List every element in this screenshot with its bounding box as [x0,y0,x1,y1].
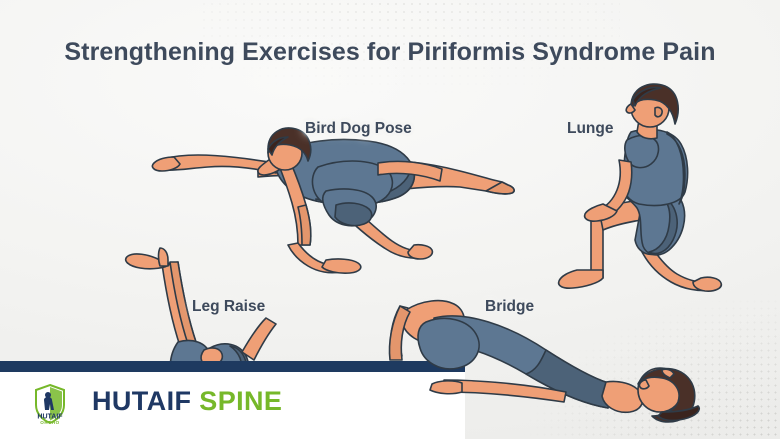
bridge-illustration [370,288,730,439]
pose-label-lunge: Lunge [567,120,614,138]
brand-name-primary: HUTAIF [92,386,191,416]
pose-label-leg-raise: Leg Raise [192,298,265,316]
lunge-illustration [555,78,735,300]
hutaif-ortho-logo: HUTAIF ORTHO [26,381,74,429]
pose-label-bird-dog: Bird Dog Pose [305,120,412,138]
page-title: Strengthening Exercises for Piriformis S… [0,38,780,67]
footer-brand: HUTAIF SPINE [92,386,282,417]
logo-text-secondary: ORTHO [40,420,60,425]
brand-name-secondary: SPINE [199,386,282,416]
slide-canvas: Strengthening Exercises for Piriformis S… [0,0,780,439]
pose-label-bridge: Bridge [485,298,534,316]
